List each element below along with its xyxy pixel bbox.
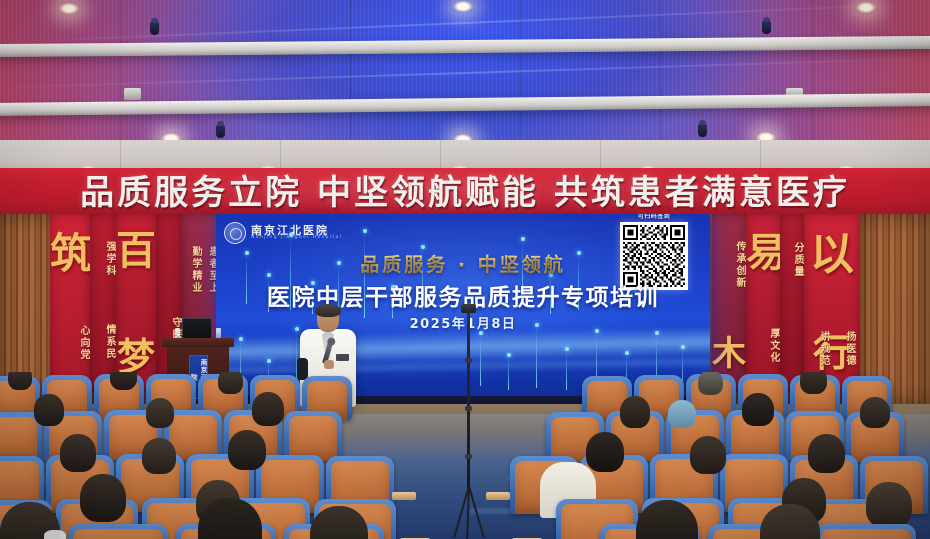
banner-slogan-text: 品质服务立院 中坚领航赋能 共筑患者满意医疗 <box>0 171 930 215</box>
stage-header-banner: 品质服务立院 中坚领航赋能 共筑患者满意医疗 <box>0 168 930 216</box>
attendee-head <box>808 434 845 473</box>
attendee-head <box>690 436 726 474</box>
laptop-icon <box>182 318 212 339</box>
seat-armrest <box>392 492 416 500</box>
hospital-logo: 南京江北医院 Nanjing Jiangbei Hospital <box>224 222 342 244</box>
calligraphy-banner-left-2: 强学科 情系民 <box>90 214 116 392</box>
attendee-head <box>866 482 912 528</box>
calligraphy-column: 强学科 <box>90 224 116 294</box>
attendee-head <box>8 372 32 390</box>
attendee-head <box>110 372 137 390</box>
presenter-hand <box>324 360 334 369</box>
calligraphy-column: 情系民 <box>90 306 116 378</box>
attendee-head <box>586 432 624 472</box>
presenter-id-badge <box>336 354 349 361</box>
audience-seating <box>0 372 930 539</box>
lectern-top <box>162 338 234 347</box>
calligraphy-banner-left-3: 百 梦 <box>116 214 156 392</box>
attendee-head <box>252 392 284 426</box>
hospital-emblem-icon <box>224 222 246 244</box>
attendee-head <box>34 394 64 426</box>
calligraphy-glyph: 以 <box>804 218 860 282</box>
auditorium-seat <box>68 524 168 539</box>
attendee-head <box>698 372 723 395</box>
ceiling-spotlight <box>150 22 159 35</box>
screen-main-title: 品质服务 · 中坚领航 <box>216 250 710 277</box>
seat-armrest <box>486 492 510 500</box>
attendee-head-with-cap <box>668 400 696 428</box>
auditorium-seat <box>284 411 342 461</box>
ceiling-spotlight <box>762 21 771 34</box>
attendee-head <box>142 438 176 474</box>
calligraphy-column: 分质量 <box>780 226 804 294</box>
ceiling-light <box>58 2 80 15</box>
attendee-head <box>146 398 174 428</box>
attendee-head <box>80 474 126 522</box>
auditorium-seat <box>816 524 916 539</box>
calligraphy-column: 勤学精业 <box>184 224 202 316</box>
face-mask <box>44 530 66 539</box>
calligraphy-banner-right-3: 分质量 <box>780 214 804 392</box>
calligraphy-glyph: 百 <box>116 218 156 276</box>
ceiling-spotlight <box>698 124 707 137</box>
calligraphy-banner-right-2: 易 厚文化 <box>746 214 780 392</box>
calligraphy-banner-right-4: 以 行 讲规范 扬医德 <box>804 214 860 392</box>
attendee-head <box>620 396 650 428</box>
calligraphy-banner-right-1: 传承创新 木 <box>712 214 746 392</box>
calligraphy-banner-left-1: 筑 心向党 <box>50 214 90 392</box>
calligraphy-glyph: 木 <box>712 326 746 375</box>
qr-caption: 可扫码签到 <box>608 214 700 220</box>
ceiling-speaker-box <box>124 88 141 100</box>
hospital-name-en: Nanjing Jiangbei Hospital <box>251 236 342 241</box>
conference-hall-photo: 品质服务立院 中坚领航赋能 共筑患者满意医疗 筑 心向党 强学科 情系民 百 梦… <box>0 0 930 539</box>
ceiling-spotlight <box>216 125 225 138</box>
calligraphy-column: 传承创新 <box>712 222 746 308</box>
ceiling-light <box>855 1 877 14</box>
presenter-hair <box>315 304 341 317</box>
attendee-head <box>860 397 890 428</box>
calligraphy-glyph: 筑 <box>50 220 90 281</box>
ceiling-light <box>452 0 474 13</box>
attendee-head <box>218 372 243 394</box>
attendee-head <box>228 430 266 470</box>
attendee-head <box>742 393 774 426</box>
attendee-head <box>60 434 96 472</box>
calligraphy-glyph: 易 <box>746 220 780 278</box>
attendee-head <box>800 372 827 394</box>
